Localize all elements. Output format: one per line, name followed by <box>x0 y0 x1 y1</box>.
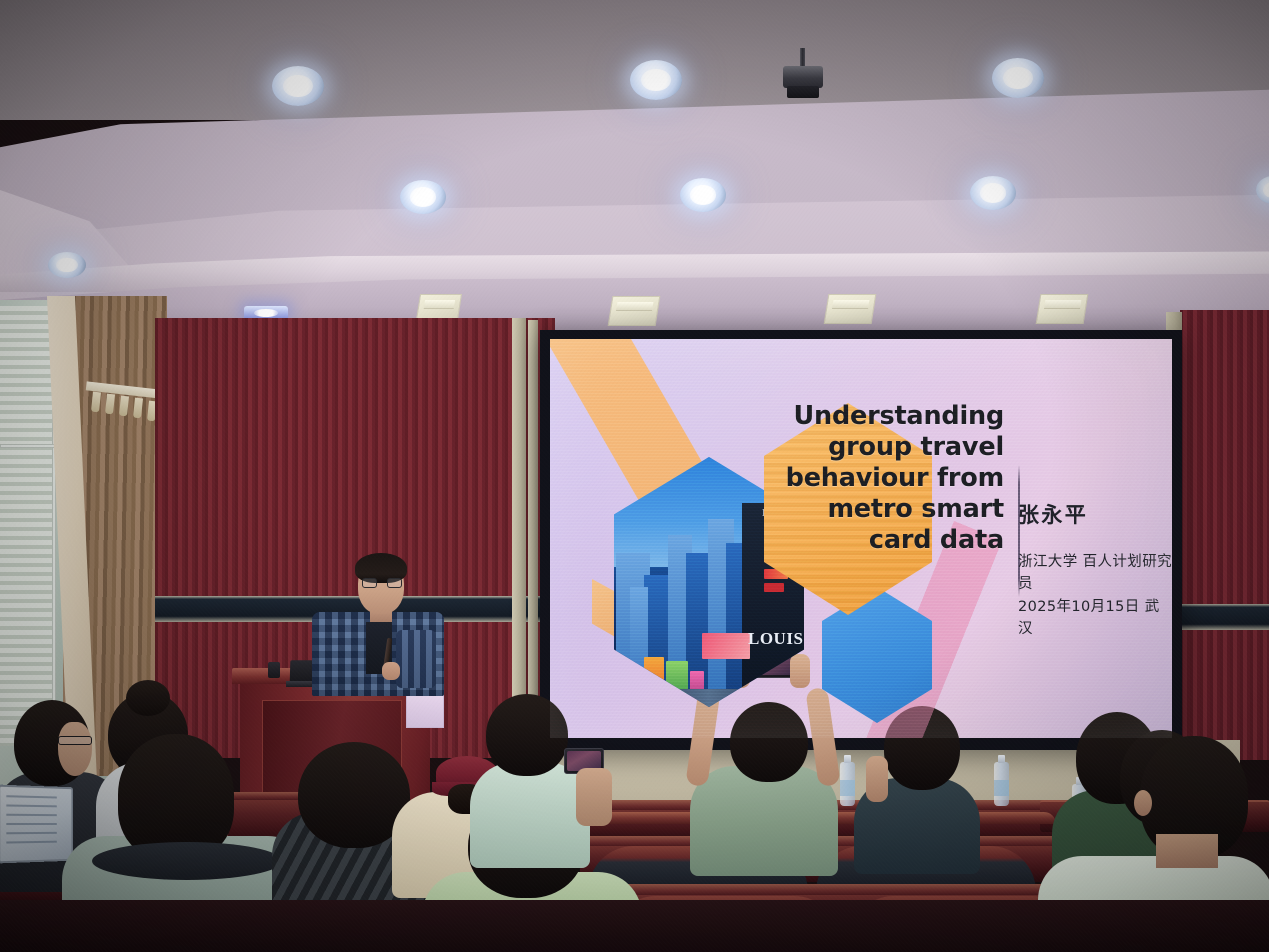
slide-title-line: card data <box>742 525 1004 556</box>
photo-neon-sign <box>644 657 664 697</box>
ceiling-downlight-icon <box>630 60 682 100</box>
photo-neon-sign <box>764 583 784 592</box>
slide-date-location: 2025年10月15日 武汉 <box>1018 596 1172 641</box>
attendee-head <box>486 694 568 776</box>
projected-slide: LOUIS LOUIS Understanding group travel b… <box>550 339 1172 738</box>
bottle-label <box>840 780 855 796</box>
attendee-face <box>58 722 92 776</box>
photo-louis-sign-text: LOUIS <box>748 629 803 649</box>
ceiling-vent-icon <box>416 294 462 320</box>
attendee-torso <box>470 762 590 868</box>
ceiling-downlight-icon <box>992 58 1044 98</box>
ceiling-downlight-icon <box>272 66 324 106</box>
photo-building <box>630 587 648 707</box>
wall-pilaster-screen-left <box>528 320 538 740</box>
attendee-arm <box>576 768 612 826</box>
attendee-head <box>730 702 808 782</box>
lecture-hall-photo: LOUIS LOUIS Understanding group travel b… <box>0 0 1269 952</box>
attendee-torso-photographer <box>690 766 838 876</box>
attendee-ear <box>1134 790 1152 816</box>
attendee-hair-bun <box>126 680 170 716</box>
laptop-screen-content <box>6 795 56 851</box>
attendee-neck <box>1156 834 1218 868</box>
photo-neon-sign <box>624 671 640 705</box>
ceiling-vent-icon <box>824 294 877 324</box>
projection-screen-frame: LOUIS LOUIS Understanding group travel b… <box>540 330 1182 750</box>
water-bottle <box>994 762 1009 806</box>
right-wall-dark-band <box>1180 604 1269 630</box>
desk-surface <box>576 836 1104 846</box>
slide-author-name: 张永平 <box>1018 499 1088 529</box>
attendee-arm <box>866 756 888 802</box>
podium-microphone-holder <box>268 662 280 678</box>
water-bottle <box>840 762 855 806</box>
slide-title-line: Understanding <box>742 401 1004 432</box>
attendee-hand-right <box>790 654 810 688</box>
floor <box>0 900 1269 952</box>
slide-title-line: behaviour from <box>742 463 1004 494</box>
attendee-head <box>118 734 234 860</box>
window-blinds <box>0 306 52 746</box>
ceiling-vent-icon <box>608 296 661 326</box>
right-wall-wood-panel <box>1180 310 1269 760</box>
ceiling-vent-icon <box>1036 294 1089 324</box>
ceiling-downlight-icon <box>400 180 446 214</box>
photo-neon-sign <box>702 633 750 659</box>
slide-title-line: metro smart <box>742 494 1004 525</box>
ceiling-projector-icon <box>783 66 823 88</box>
projector-lens-icon <box>787 86 819 98</box>
ceiling-downlight-icon <box>48 252 86 278</box>
attendee-collar <box>92 842 282 880</box>
speaker-hand <box>382 662 400 680</box>
photo-neon-sign <box>666 661 688 699</box>
ceiling-downlight-icon <box>680 178 726 212</box>
wall-pilaster-left <box>512 318 526 698</box>
speaker-right-arm <box>396 630 436 688</box>
attendee-laptop <box>0 785 73 864</box>
slide-author-meta: 浙江大学 百人计划研究员 2025年10月15日 武汉 <box>1018 551 1172 641</box>
slide-affiliation: 浙江大学 百人计划研究员 <box>1018 551 1172 596</box>
slide-title: Understanding group travel behaviour fro… <box>742 401 1004 557</box>
slide-title-line: group travel <box>742 432 1004 463</box>
attendee-glasses-icon <box>58 736 92 745</box>
speaker-glasses-icon <box>362 578 402 588</box>
bottle-label <box>994 780 1009 796</box>
ceiling-downlight-icon <box>970 176 1016 210</box>
